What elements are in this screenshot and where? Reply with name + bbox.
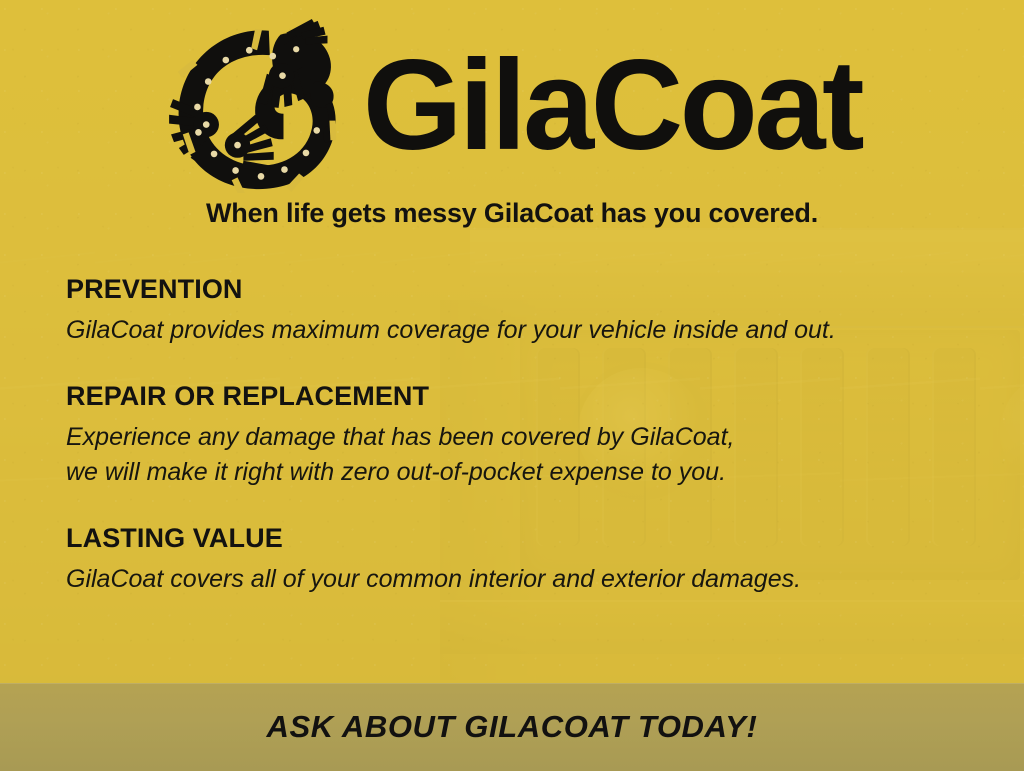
- feature-list: PREVENTION GilaCoat provides maximum cov…: [66, 274, 966, 597]
- footer-cta-text: ASK ABOUT GILACOAT TODAY!: [267, 709, 758, 745]
- feature-body: GilaCoat covers all of your common inter…: [66, 562, 966, 597]
- feature-body-line: we will make it right with zero out-of-p…: [66, 455, 966, 490]
- feature-body: Experience any damage that has been cove…: [66, 420, 966, 489]
- gilacoat-advertisement-poster: GilaCoat When life gets messy GilaCoat h…: [0, 0, 1024, 771]
- brand-lockup: GilaCoat: [0, 14, 1024, 194]
- feature-title: PREVENTION: [66, 274, 966, 306]
- feature-body: GilaCoat provides maximum coverage for y…: [66, 313, 966, 348]
- brand-tagline: When life gets messy GilaCoat has you co…: [0, 198, 1024, 229]
- poster-content: GilaCoat When life gets messy GilaCoat h…: [0, 0, 1024, 771]
- feature-block-prevention: PREVENTION GilaCoat provides maximum cov…: [66, 274, 966, 347]
- gila-monster-lizard-icon: [163, 17, 359, 193]
- feature-body-line: Experience any damage that has been cove…: [66, 420, 966, 455]
- feature-title: REPAIR OR REPLACEMENT: [66, 381, 966, 413]
- feature-block-lasting-value: LASTING VALUE GilaCoat covers all of you…: [66, 523, 966, 596]
- brand-wordmark: GilaCoat: [363, 42, 861, 170]
- feature-body-line: GilaCoat provides maximum coverage for y…: [66, 313, 966, 348]
- feature-title: LASTING VALUE: [66, 523, 966, 555]
- feature-body-line: GilaCoat covers all of your common inter…: [66, 562, 966, 597]
- footer-cta-band: ASK ABOUT GILACOAT TODAY!: [0, 683, 1024, 771]
- feature-block-repair-or-replacement: REPAIR OR REPLACEMENT Experience any dam…: [66, 381, 966, 489]
